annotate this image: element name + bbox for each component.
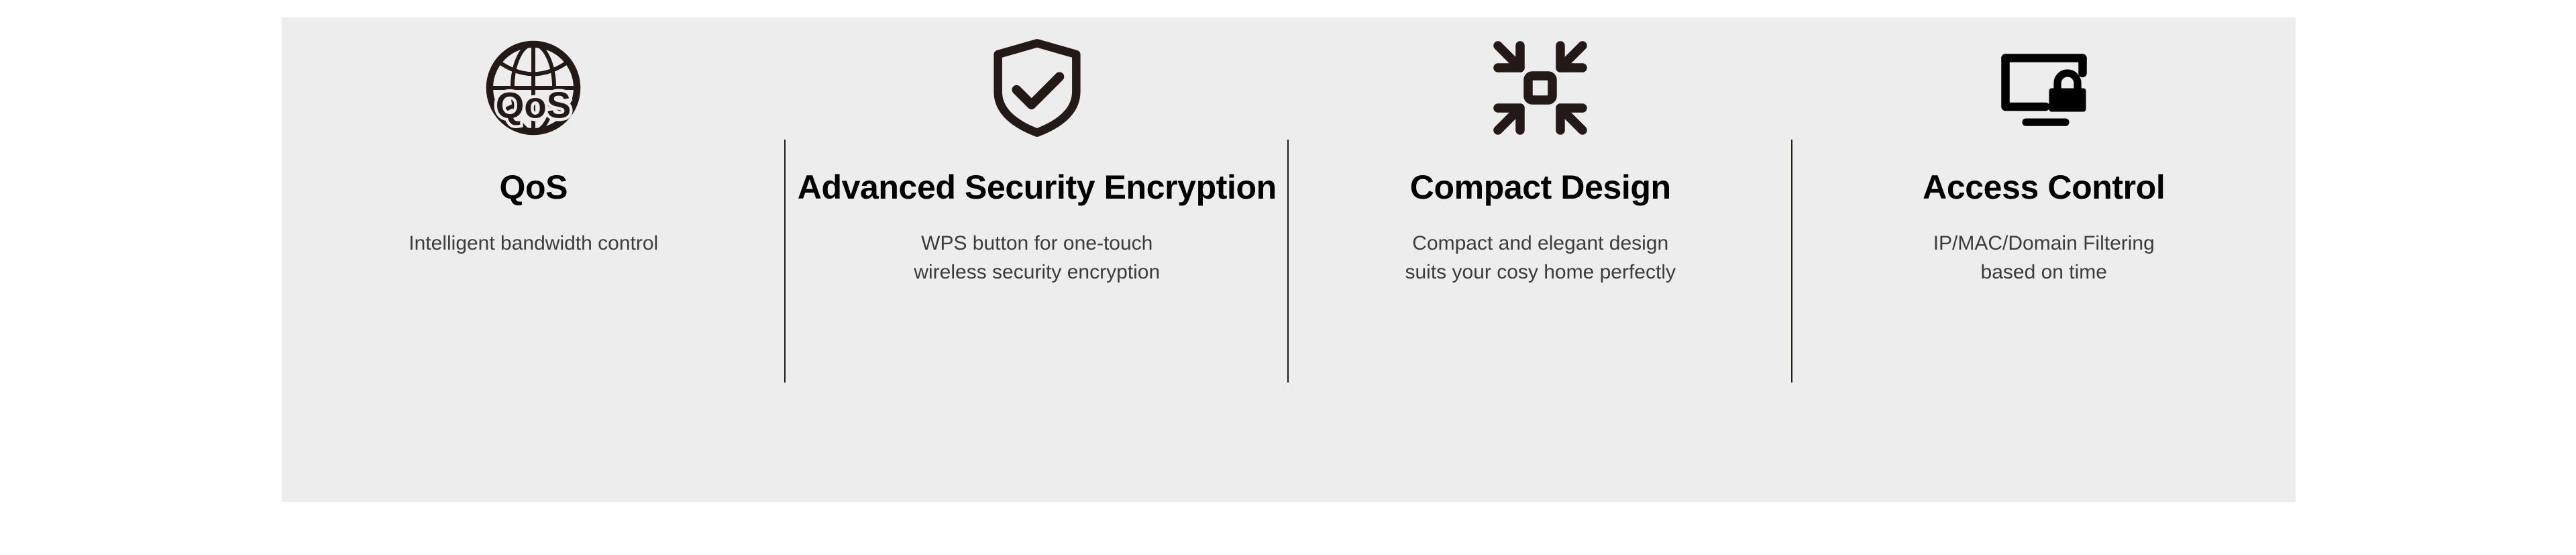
feature-icon-slot [1289,17,1792,158]
feature-description: IP/MAC/Domain Filtering based on time [1933,230,2155,287]
feature-description-line: based on time [1933,258,2155,287]
feature-icon-slot: QoS [282,17,786,158]
monitor-lock-icon [1994,46,2094,130]
feature-description-line: IP/MAC/Domain Filtering [1933,230,2155,258]
feature-icon-slot [1792,17,2296,158]
feature-description: Intelligent bandwidth control [409,230,658,258]
feature-description-line: wireless security encryption [914,258,1160,287]
compress-arrows-icon [1490,38,1591,138]
feature-card-qos: QoS QoS Intelligent bandwidth control [282,17,786,502]
qos-icon-text: QoS [496,84,572,125]
feature-description: WPS button for one-touch wireless securi… [914,230,1160,287]
feature-description-line: WPS button for one-touch [914,230,1160,258]
feature-title: Advanced Security Encryption [798,170,1277,204]
feature-title: Compact Design [1410,170,1671,204]
feature-icon-slot [786,17,1289,158]
feature-description-line: suits your cosy home perfectly [1405,258,1676,287]
feature-card-advanced-security-encryption: Advanced Security Encryption WPS button … [786,17,1289,502]
feature-title: Access Control [1923,170,2165,204]
feature-description-line: Compact and elegant design [1405,230,1676,258]
feature-title: QoS [499,170,568,204]
feature-description-line: Intelligent bandwidth control [409,230,658,258]
shield-check-icon [990,38,1084,138]
feature-highlights-panel: QoS QoS Intelligent bandwidth control Ad… [282,17,2296,502]
feature-card-compact-design: Compact Design Compact and elegant desig… [1289,17,1792,502]
feature-description: Compact and elegant design suits your co… [1405,230,1676,287]
qos-globe-icon: QoS [484,38,583,138]
feature-card-access-control: Access Control IP/MAC/Domain Filtering b… [1792,17,2296,502]
